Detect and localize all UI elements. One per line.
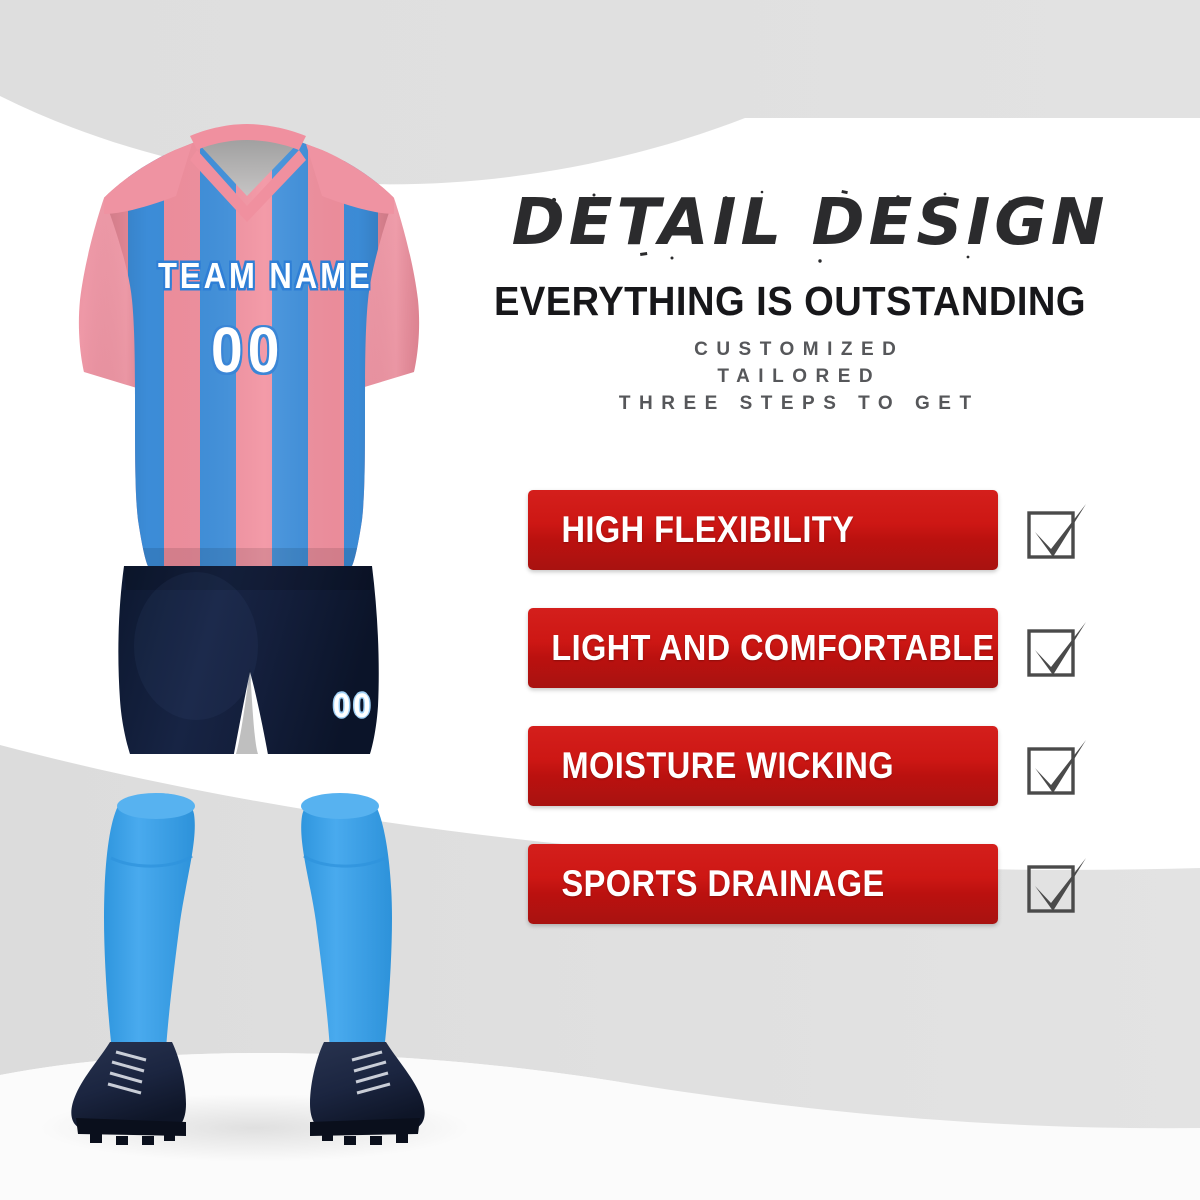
page-subtitle: EVERYTHING IS OUTSTANDING [465, 278, 1116, 324]
page-title: DETAIL DESIGN [490, 178, 1130, 268]
sock-left [104, 793, 195, 1052]
content-column: DETAIL DESIGN EVERYTHING IS OUTSTANDING … [440, 0, 1200, 1200]
checkbox-moisture-wicking[interactable] [1026, 735, 1088, 797]
product-feature-poster: TEAM NAME 00 00 DETAIL DESIGN EVERYTHING… [0, 0, 1200, 1200]
tagline-group: CUSTOMIZED TAILORED THREE STEPS TO GET [440, 336, 1150, 417]
feature-label: HIGH FLEXIBILITY [528, 509, 854, 551]
uniform-illustration [0, 0, 500, 1200]
feature-banner-moisture-wicking[interactable]: MOISTURE WICKING [528, 726, 998, 806]
check-square-icon [1026, 853, 1088, 915]
sock-right [301, 794, 392, 1052]
feature-row: SPORTS DRAINAGE [528, 842, 1148, 926]
checkbox-light-and-comfortable[interactable] [1026, 617, 1088, 679]
feature-row: HIGH FLEXIBILITY [528, 488, 1148, 572]
checkbox-high-flexibility[interactable] [1026, 499, 1088, 561]
jersey [60, 120, 450, 580]
feature-banner-high-flexibility[interactable]: HIGH FLEXIBILITY [528, 490, 998, 570]
cleat-right [310, 1042, 425, 1145]
page-title-text: DETAIL DESIGN [512, 186, 1109, 260]
cleats [71, 1042, 424, 1145]
check-square-icon [1026, 617, 1088, 679]
checkbox-sports-drainage[interactable] [1026, 853, 1088, 915]
shorts [118, 566, 378, 754]
product-image: TEAM NAME 00 00 [0, 0, 500, 1200]
sock-right-cuff-top [301, 793, 379, 819]
cleat-left [71, 1042, 186, 1145]
shorts-highlight [134, 572, 258, 720]
sock-left-cuff-top [117, 793, 195, 819]
feature-list: HIGH FLEXIBILITY LIGHT AND COMFORTABLE [528, 488, 1148, 960]
check-square-icon [1026, 499, 1088, 561]
tagline-1: CUSTOMIZED [440, 336, 1150, 363]
feature-row: MOISTURE WICKING [528, 724, 1148, 808]
feature-label: MOISTURE WICKING [528, 745, 894, 787]
tagline-2: TAILORED [440, 363, 1150, 390]
check-square-icon [1026, 735, 1088, 797]
feature-banner-light-and-comfortable[interactable]: LIGHT AND COMFORTABLE [528, 608, 998, 688]
feature-row: LIGHT AND COMFORTABLE [528, 606, 1148, 690]
socks [104, 793, 392, 1052]
tagline-3: THREE STEPS TO GET [440, 390, 1150, 417]
feature-label: LIGHT AND COMFORTABLE [528, 627, 995, 669]
feature-label: SPORTS DRAINAGE [528, 863, 885, 905]
feature-banner-sports-drainage[interactable]: SPORTS DRAINAGE [528, 844, 998, 924]
